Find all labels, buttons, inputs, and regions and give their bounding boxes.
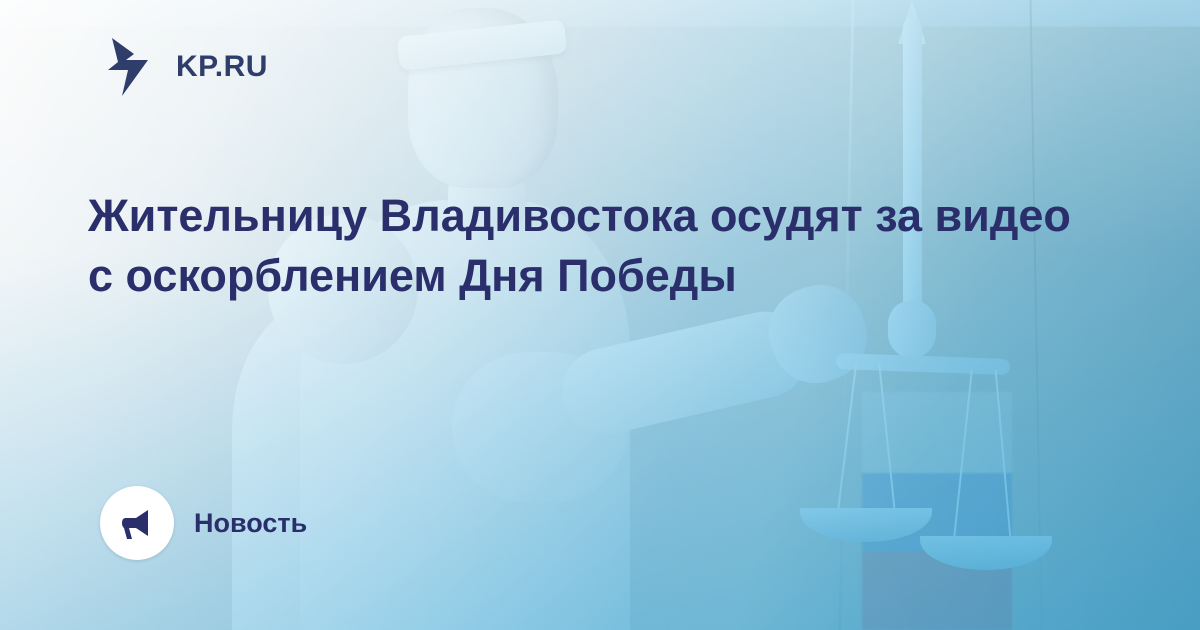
status-badge[interactable]: Новость bbox=[100, 486, 307, 560]
page-title: Жительницу Владивостока осудят за видео … bbox=[88, 186, 1098, 306]
swallow-bird-icon bbox=[104, 36, 160, 98]
megaphone-icon bbox=[100, 486, 174, 560]
brand-name: KP.RU bbox=[176, 50, 268, 84]
card-content: KP.RU Жительницу Владивостока осудят за … bbox=[0, 0, 1200, 630]
status-badge-label: Новость bbox=[194, 508, 307, 539]
brand-logo[interactable]: KP.RU bbox=[104, 36, 268, 98]
social-share-card: KP.RU Жительницу Владивостока осудят за … bbox=[0, 0, 1200, 630]
